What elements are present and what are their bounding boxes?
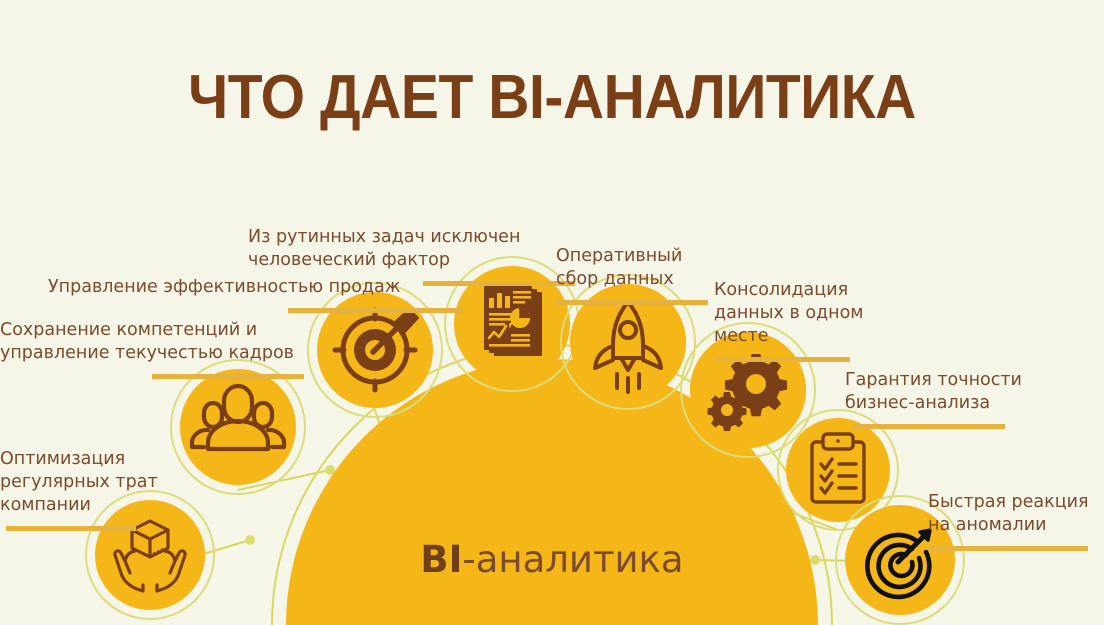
label-accuracy: Гарантия точности бизнес-анализа [845, 346, 1075, 452]
center-label-strong: BI [420, 538, 462, 581]
label-routine: Из рутинных задач исключен человеческий … [248, 203, 578, 309]
label-collect-text: Оперативный сбор данных [556, 246, 682, 289]
label-anomaly-text: Быстрая реакция на аномалии [928, 492, 1089, 535]
label-underline [6, 526, 136, 531]
center-label: BI-аналитика [0, 538, 1104, 581]
label-optimize-text: Оптимизация регулярных трат компании [0, 449, 158, 515]
label-underline [853, 424, 1005, 429]
label-underline [714, 357, 850, 362]
label-routine-text: Из рутинных задач исключен человеческий … [248, 227, 520, 270]
label-underline [423, 281, 575, 286]
label-accuracy-text: Гарантия точности бизнес-анализа [845, 370, 1022, 413]
label-consolidation-text: Консолидация данных в одном месте [714, 280, 863, 346]
center-label-rest: -аналитика [462, 538, 683, 581]
infographic-canvas: ЧТО ДАЕТ BI-АНАЛИТИКА [0, 0, 1104, 625]
label-optimize: Оптимизация регулярных трат компании [0, 425, 200, 554]
label-underline [556, 300, 708, 305]
label-underline [152, 374, 304, 379]
